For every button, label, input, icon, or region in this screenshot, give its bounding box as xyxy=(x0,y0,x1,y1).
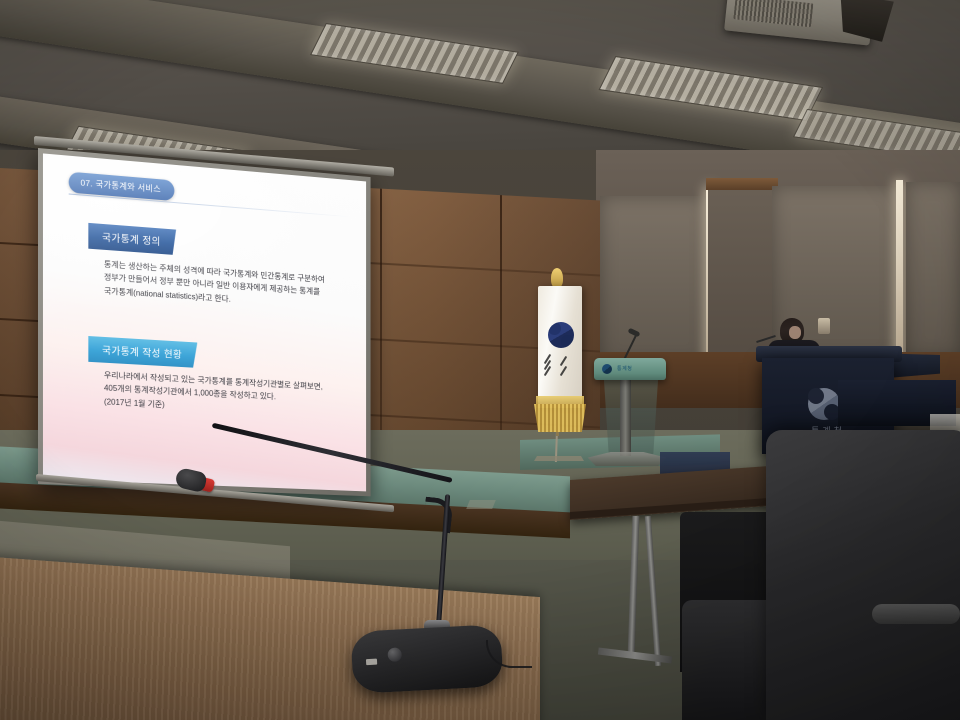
conference-microphone-base[interactable] xyxy=(350,624,503,694)
window-blind xyxy=(906,182,960,358)
slide-section-header-1: 국가통계 정의 xyxy=(88,223,176,255)
presentation-slide: 07. 국가통계와 서비스 국가통계 정의 통계는 생산하는 주체의 성격에 따… xyxy=(43,153,366,491)
slide-section-body-1: 통계는 생산하는 주체의 성격에 따라 국가통계와 민간통계로 구분하여 정부가… xyxy=(104,258,346,313)
projector-vent-icon xyxy=(733,0,813,27)
slide-section-header-2: 국가통계 작성 현황 xyxy=(88,336,197,368)
window-blind xyxy=(600,196,708,364)
microphone-led-indicator xyxy=(366,659,377,666)
projection-screen[interactable]: 07. 국가통계와 서비스 국가통계 정의 통계는 생산하는 주체의 성격에 따… xyxy=(38,148,371,496)
flag-stand-base xyxy=(534,456,584,461)
korean-national-flag xyxy=(538,286,582,408)
teal-lectern[interactable]: 통계청 xyxy=(594,358,666,380)
window-light-slit xyxy=(896,180,903,366)
floor-marking xyxy=(466,500,496,509)
taegeuk-logo-icon xyxy=(808,388,840,420)
chair-armrest xyxy=(872,604,960,624)
slide-title-rule xyxy=(69,193,352,217)
wall-column-cap xyxy=(706,178,778,190)
lectern-skirt xyxy=(600,376,662,454)
slide-pill-title: 07. 국가통계와 서비스 xyxy=(69,172,175,201)
wall-sconce-icon xyxy=(818,318,830,334)
flag-gold-fringe xyxy=(534,404,586,432)
office-chair[interactable] xyxy=(766,430,960,720)
slide-section-body-2: 우리나라에서 작성되고 있는 국가통계를 통계작성기관별로 살펴보면, 405개… xyxy=(104,369,346,420)
conference-room-scene: 07. 국가통계와 서비스 국가통계 정의 통계는 생산하는 주체의 성격에 따… xyxy=(0,0,960,720)
lectern-logo-text: 통계청 xyxy=(617,365,632,372)
taegeuk-icon xyxy=(548,322,574,348)
microphone-mute-button[interactable] xyxy=(387,647,402,662)
flag-finial-icon xyxy=(551,268,563,288)
lectern-logo-icon xyxy=(602,364,612,374)
lectern-column xyxy=(620,376,631,456)
presenter-face xyxy=(789,326,801,339)
